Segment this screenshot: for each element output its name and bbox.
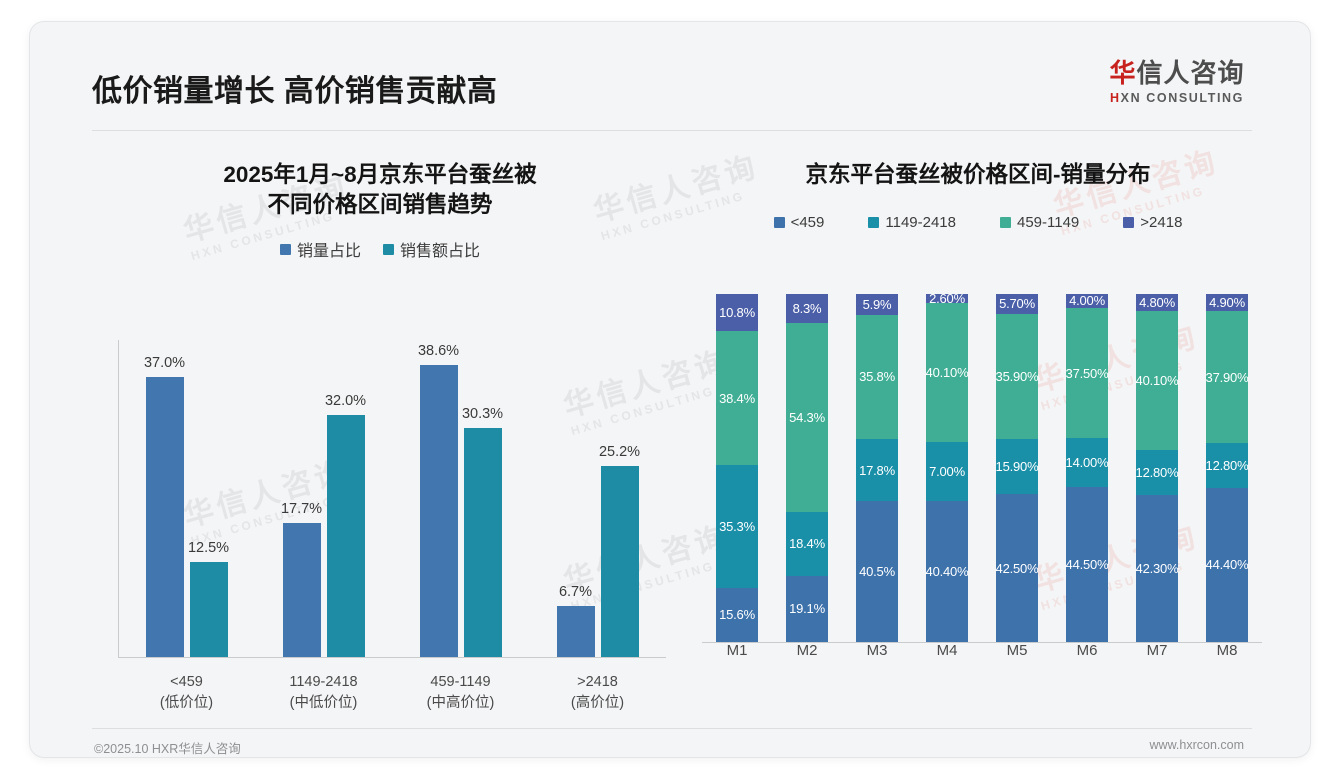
x-axis-label-M3: M3 [842,642,912,659]
legend-item-0[interactable]: <459 [774,214,825,231]
bar-fill [601,466,639,657]
stack-segment-<459[interactable]: 15.6% [716,588,758,642]
x-axis-line [118,657,666,658]
bar-group: 6.7%25.2% [529,340,666,657]
x-axis-label-M7: M7 [1122,642,1192,659]
stack-segment->2418[interactable]: 4.80% [1136,294,1178,311]
chart-title-line2: 不同价格区间销售趋势 [70,190,690,220]
grouped-bar-plot-area: 37.0%12.5%17.7%32.0%38.6%30.3%6.7%25.2% [118,340,666,658]
x-axis-label-<459: <459(低价位) [118,672,255,714]
stack-segment-<459[interactable]: 40.40% [926,501,968,642]
stack-segment-label: 42.50% [996,561,1039,576]
logo-english: HXN CONSULTING [1082,91,1272,105]
legend-label: <459 [791,214,825,231]
x-axis-label-M1: M1 [702,642,772,659]
bar-fill [557,606,595,657]
stack-segment-label: 35.90% [996,369,1039,384]
stack-segment-1149-2418[interactable]: 18.4% [786,512,828,576]
stack-segment-459-1149[interactable]: 35.90% [996,314,1038,439]
stack-segment-459-1149[interactable]: 54.3% [786,323,828,512]
legend-label: >2418 [1140,214,1182,231]
x-axis-category-labels: <459(低价位)1149-2418(中低价位)459-1149(中高价位)>2… [118,662,666,720]
x-axis-label-main: >2418 [529,672,666,693]
x-axis-label->2418: >2418(高价位) [529,672,666,714]
x-axis-label-459-1149: 459-1149(中高价位) [392,672,529,714]
stack-segment-label: 44.40% [1206,557,1249,572]
stacked-bar-chart: 15.6%35.3%38.4%10.8%19.1%18.4%54.3%8.3%4… [702,292,1262,664]
legend-swatch-icon [280,244,291,255]
stack-segment-<459[interactable]: 44.40% [1206,488,1248,643]
stacked-bar-M3[interactable]: 40.5%17.8%35.8%5.9% [856,294,898,642]
stack-segment->2418[interactable]: 5.70% [996,294,1038,314]
stacked-bar-M7[interactable]: 42.30%12.80%40.10%4.80% [1136,294,1178,642]
chart-legend-volume-distribution: <4591149-2418459-1149>2418 [678,214,1278,231]
logo-chars-rest: 信人咨询 [1137,58,1245,88]
stack-segment-label: 15.6% [719,607,755,622]
stack-segment-<459[interactable]: 42.30% [1136,495,1178,642]
stack-segment-label: 40.5% [859,564,895,579]
bar-fill [146,377,184,657]
x-axis-label-main: <459 [118,672,255,693]
stack-segment-1149-2418[interactable]: 35.3% [716,465,758,588]
chart-title-line1: 2025年1月~8月京东平台蚕丝被 [70,160,690,190]
legend-swatch-icon [774,217,785,228]
stack-segment-label: 35.3% [719,519,755,534]
stack-segment->2418[interactable]: 8.3% [786,294,828,323]
stack-segment-label: 4.80% [1139,295,1175,310]
stack-segment-label: 40.10% [926,365,969,380]
bar-fill [283,523,321,657]
stack-segment-label: 10.8% [719,305,755,320]
bar-group: 37.0%12.5% [118,340,255,657]
x-axis-label-M2: M2 [772,642,842,659]
bar-value-label: 12.5% [188,540,229,556]
stack-segment-label: 5.9% [863,297,892,312]
stack-segment-459-1149[interactable]: 40.10% [926,303,968,443]
legend-label: 1149-2418 [885,214,956,231]
x-axis-month-labels: M1M2M3M4M5M6M7M8 [702,642,1262,666]
x-axis-label-sub: (低价位) [118,693,255,714]
bar-value-label: 17.7% [281,501,322,517]
stack-segment-label: 35.8% [859,369,895,384]
stack-segment-label: 38.4% [719,391,755,406]
x-axis-label-M5: M5 [982,642,1052,659]
stack-segment-<459[interactable]: 42.50% [996,494,1038,642]
stack-segment-label: 5.70% [999,296,1035,311]
x-axis-label-M6: M6 [1052,642,1122,659]
bar-value-label: 38.6% [418,343,459,359]
legend-label: 459-1149 [1017,214,1079,231]
stacked-bar-M2[interactable]: 19.1%18.4%54.3%8.3% [786,294,828,642]
stack-segment->2418[interactable]: 4.90% [1206,294,1248,311]
legend-item-1[interactable]: 销售额占比 [383,237,480,261]
bar-fill [464,428,502,657]
legend-item-0[interactable]: 销量占比 [280,237,361,261]
stack-segment-label: 2.60% [929,291,965,306]
logo-en-rest: XN CONSULTING [1121,91,1244,105]
bar-value-label: 6.7% [559,584,592,600]
x-axis-label-sub: (高价位) [529,693,666,714]
bar-fill [190,562,228,657]
chart-title-sales-trend: 2025年1月~8月京东平台蚕丝被 不同价格区间销售趋势 [70,160,690,219]
stacked-bar-M6[interactable]: 44.50%14.00%37.50%4.00% [1066,294,1108,642]
logo-en-h: H [1110,91,1121,105]
x-axis-label-sub: (中低价位) [255,693,392,714]
stack-segment->2418[interactable]: 4.00% [1066,294,1108,308]
stack-segment-<459[interactable]: 40.5% [856,501,898,642]
stack-segment-label: 42.30% [1136,561,1179,576]
stack-segment-label: 37.90% [1206,370,1249,385]
stack-segment-1149-2418[interactable]: 17.8% [856,439,898,501]
stack-segment-1149-2418[interactable]: 12.80% [1136,450,1178,495]
chart-title-volume-distribution: 京东平台蚕丝被价格区间-销量分布 [678,160,1278,190]
x-axis-label-sub: (中高价位) [392,693,529,714]
footer-copyright: ©2025.10 HXR华信人咨询 [94,738,241,757]
legend-item-3[interactable]: >2418 [1123,214,1182,231]
stacked-bar-M5[interactable]: 42.50%15.90%35.90%5.70% [996,294,1038,642]
stack-segment-1149-2418[interactable]: 7.00% [926,442,968,501]
stack-segment-label: 4.90% [1209,295,1245,310]
stack-segment-459-1149[interactable]: 38.4% [716,331,758,465]
x-axis-label-M4: M4 [912,642,982,659]
legend-item-1[interactable]: 1149-2418 [868,214,956,231]
legend-swatch-icon [868,217,879,228]
legend-swatch-icon [1123,217,1134,228]
legend-swatch-icon [383,244,394,255]
stack-segment->2418[interactable]: 10.8% [716,294,758,332]
chart-panel-sales-trend: 2025年1月~8月京东平台蚕丝被 不同价格区间销售趋势 销量占比销售额占比 3… [70,142,690,702]
bar-value-label: 32.0% [325,393,366,409]
stack-segment-label: 7.00% [929,464,965,479]
stacked-bar-M1[interactable]: 15.6%35.3%38.4%10.8% [716,294,758,642]
x-axis-label-main: 459-1149 [392,672,529,693]
stacked-bar-plot-area: 15.6%35.3%38.4%10.8%19.1%18.4%54.3%8.3%4… [702,294,1262,642]
stack-segment-label: 4.00% [1069,293,1105,308]
bar-fill [420,365,458,657]
stack-segment-1149-2418[interactable]: 14.00% [1066,438,1108,487]
slide-canvas: 低价销量增长 高价销售贡献高 华信人咨询 HXN CONSULTING 华信人咨… [30,22,1310,757]
grouped-bar-chart: 37.0%12.5%17.7%32.0%38.6%30.3%6.7%25.2% … [96,310,666,658]
stack-segment-label: 44.50% [1066,557,1109,572]
stack-segment-<459[interactable]: 19.1% [786,576,828,642]
bar-value-label: 37.0% [144,355,185,371]
stack-segment-label: 54.3% [789,410,825,425]
x-axis-label-1149-2418: 1149-2418(中低价位) [255,672,392,714]
company-logo: 华信人咨询 HXN CONSULTING [1082,60,1272,105]
stack-segment-459-1149[interactable]: 40.10% [1136,311,1178,451]
bar-value-label: 30.3% [462,406,503,422]
stack-segment-label: 14.00% [1066,455,1109,470]
stack-segment->2418[interactable]: 5.9% [856,294,898,315]
stack-segment-label: 19.1% [789,601,825,616]
footer-website: www.hxrcon.com [1150,738,1244,752]
stack-segment-label: 8.3% [793,301,822,316]
logo-chinese: 华信人咨询 [1082,60,1272,87]
stack-segment-459-1149[interactable]: 37.50% [1066,308,1108,439]
footer-divider [92,728,1252,729]
stack-segment-label: 12.80% [1206,458,1249,473]
stack-segment-1149-2418[interactable]: 15.90% [996,439,1038,494]
stack-segment-label: 18.4% [789,536,825,551]
stacked-bar-M4[interactable]: 40.40%7.00%40.10%2.60% [926,294,968,642]
stack-segment-label: 15.90% [996,459,1039,474]
page-title: 低价销量增长 高价销售贡献高 [92,66,497,110]
stack-segment-label: 37.50% [1066,366,1109,381]
slide-header: 低价销量增长 高价销售贡献高 华信人咨询 HXN CONSULTING [30,22,1310,114]
bar-value-label: 25.2% [599,444,640,460]
stack-segment-459-1149[interactable]: 37.90% [1206,311,1248,443]
bar-group: 17.7%32.0% [255,340,392,657]
chart-panel-volume-distribution: 京东平台蚕丝被价格区间-销量分布 <4591149-2418459-1149>2… [678,142,1278,702]
x-axis-label-main: 1149-2418 [255,672,392,693]
logo-char-hua: 华 [1109,58,1136,88]
bar-fill [327,415,365,657]
header-divider [92,130,1252,131]
stack-segment->2418[interactable]: 2.60% [926,294,968,303]
stack-segment-459-1149[interactable]: 35.8% [856,315,898,440]
x-axis-label-M8: M8 [1192,642,1262,659]
stack-segment-label: 12.80% [1136,465,1179,480]
chart-legend-sales-trend: 销量占比销售额占比 [70,237,690,261]
stacked-bar-M8[interactable]: 44.40%12.80%37.90%4.90% [1206,294,1248,642]
legend-swatch-icon [1000,217,1011,228]
legend-label: 销售额占比 [400,237,480,261]
stack-segment-label: 40.40% [926,564,969,579]
bar-group: 38.6%30.3% [392,340,529,657]
legend-label: 销量占比 [297,237,361,261]
stack-segment-1149-2418[interactable]: 12.80% [1206,443,1248,488]
y-axis-line [118,340,119,658]
stack-segment-label: 40.10% [1136,373,1179,388]
stack-segment-label: 17.8% [859,463,895,478]
stack-segment-<459[interactable]: 44.50% [1066,487,1108,642]
legend-item-2[interactable]: 459-1149 [1000,214,1079,231]
